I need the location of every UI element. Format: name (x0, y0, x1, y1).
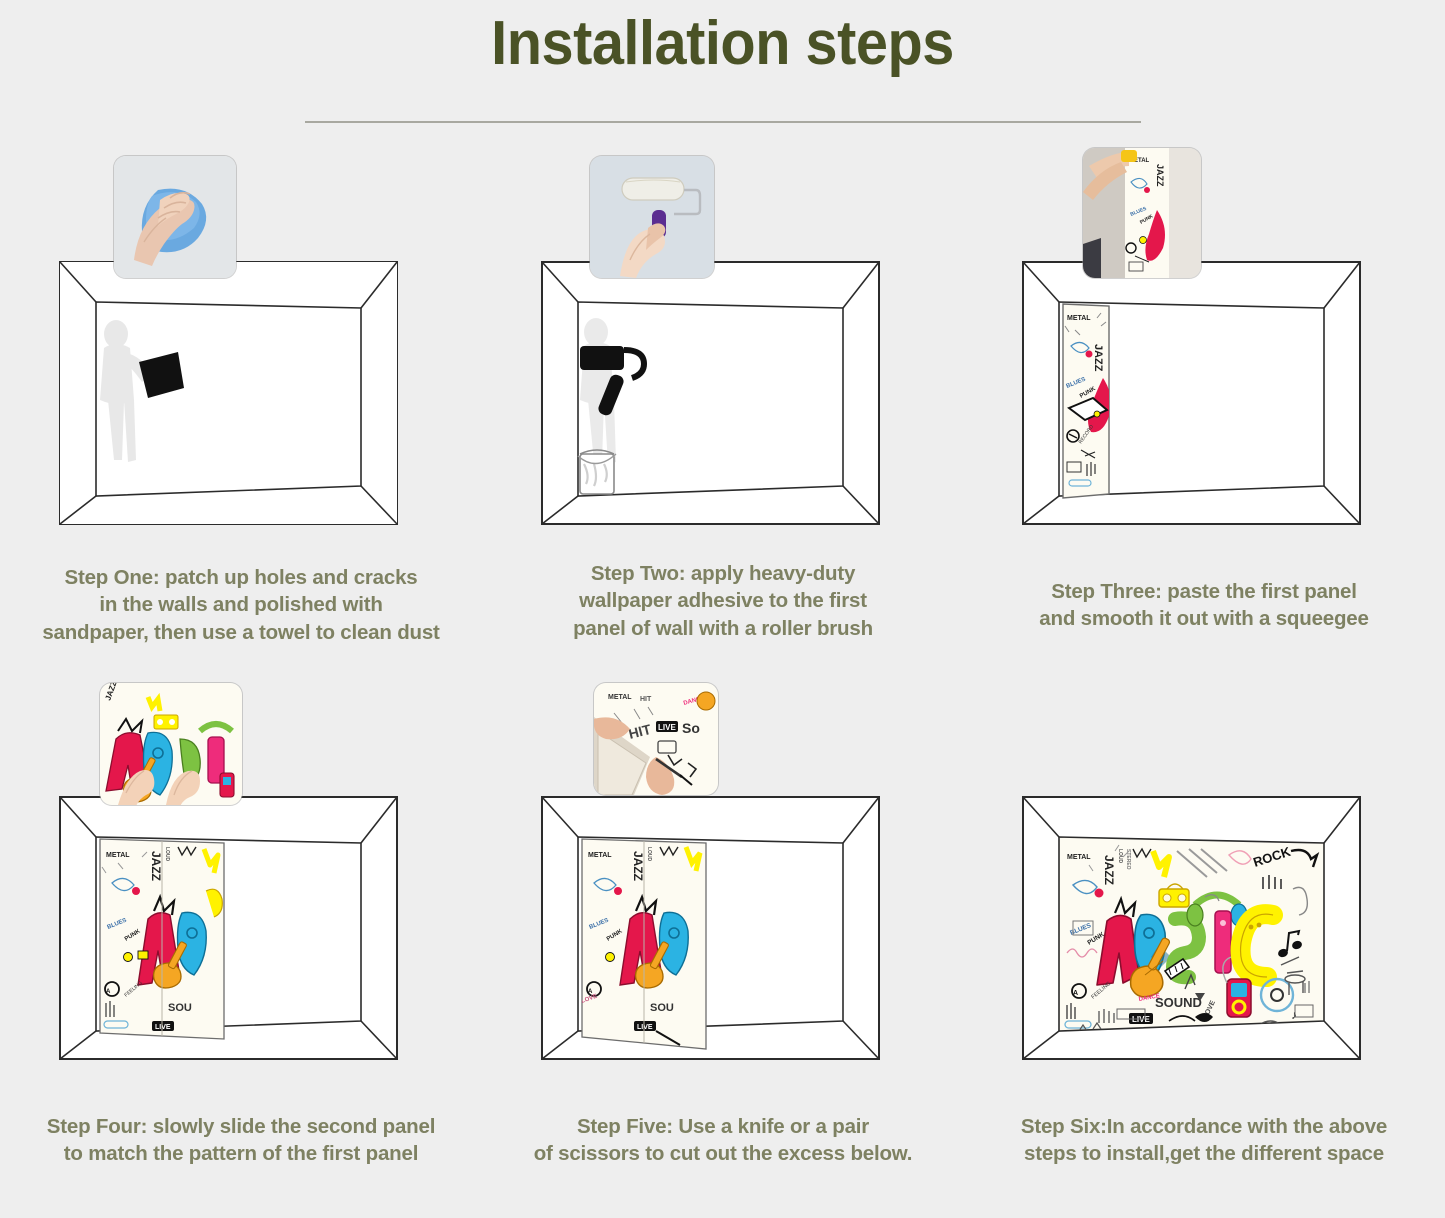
caption-line: Step One: patch up holes and cracks (0, 564, 482, 591)
caption-line: panel of wall with a roller brush (482, 615, 964, 642)
caption-line: of scissors to cut out the excess below. (482, 1140, 964, 1167)
svg-text:LOUD: LOUD (164, 847, 170, 862)
step-two-photo (590, 156, 714, 278)
caption-line: and smooth it out with a squeegee (963, 605, 1445, 632)
step-six-caption: Step Six:In accordance with the above st… (963, 1113, 1445, 1168)
svg-text:METAL: METAL (1067, 315, 1091, 322)
caption-line: sandpaper, then use a towel to clean dus… (0, 619, 482, 646)
step-three-caption: Step Three: paste the first panel and sm… (963, 578, 1445, 633)
caption-line: Step Six:In accordance with the above (963, 1113, 1445, 1140)
step-five-illustration: METAL JAZZ LOUD BLUES PUNK (482, 683, 964, 1103)
wallpaper-panel-one: METAL JAZZ BLUES PUNK (1063, 304, 1111, 498)
step-five-caption: Step Five: Use a knife or a pair of scis… (482, 1113, 964, 1168)
svg-text:METAL: METAL (608, 694, 632, 701)
step-four-illustration: METAL JAZZ LOUD BLUES PUNK (0, 683, 482, 1103)
caption-line: wallpaper adhesive to the first (482, 587, 964, 614)
title-divider (305, 121, 1141, 123)
room-diagram-four: METAL JAZZ LOUD BLUES PUNK (56, 793, 401, 1063)
svg-text:JAZZ: JAZZ (1155, 164, 1165, 187)
step-five-photo: METAL HIT LIVE So DANCE HIT (594, 683, 718, 795)
step-six-cell: METAL JAZZ LOUD STEREO ROCK (963, 683, 1445, 1218)
step-one-illustration (0, 148, 482, 568)
svg-text:A: A (1073, 990, 1078, 997)
svg-text:METAL: METAL (106, 852, 130, 859)
step-one-caption: Step One: patch up holes and cracks in t… (0, 564, 482, 646)
svg-text:♪: ♪ (1291, 1008, 1297, 1022)
svg-text:LIVE: LIVE (155, 1024, 171, 1031)
steps-row-top: Step One: patch up holes and cracks in t… (0, 148, 1445, 683)
svg-text:SOUND: SOUND (1155, 995, 1202, 1010)
svg-text:LOUD: LOUD (1117, 849, 1123, 864)
caption-line: to match the pattern of the first panel (0, 1140, 482, 1167)
svg-text:JAZZ: JAZZ (149, 851, 163, 881)
room-diagram-five: METAL JAZZ LOUD BLUES PUNK (538, 793, 883, 1063)
svg-text:METAL: METAL (588, 852, 612, 859)
svg-text:SOU: SOU (168, 1002, 192, 1014)
mural-letter-I (1215, 911, 1231, 973)
svg-text:LIVE: LIVE (637, 1024, 653, 1031)
step-two-cell: Step Two: apply heavy-duty wallpaper adh… (482, 148, 964, 683)
step-four-cell: METAL JAZZ LOUD BLUES PUNK (0, 683, 482, 1218)
room-diagram-six: METAL JAZZ LOUD STEREO ROCK (1019, 793, 1364, 1063)
step-three-illustration: METAL JAZZ BLUES PUNK (963, 148, 1445, 568)
svg-text:SOU: SOU (650, 1002, 674, 1014)
adhesive-bucket-icon (578, 450, 616, 494)
svg-text:A: A (106, 989, 111, 995)
step-three-photo: METAL JAZZ BLUES PUNK (1083, 148, 1201, 278)
steps-row-bottom: METAL JAZZ LOUD BLUES PUNK (0, 683, 1445, 1218)
steps-grid: Step One: patch up holes and cracks in t… (0, 148, 1445, 1218)
caption-line: steps to install,get the different space (963, 1140, 1445, 1167)
wallpaper-panels-two: METAL JAZZ LOUD BLUES PUNK (100, 839, 224, 1039)
svg-text:JAZZ: JAZZ (631, 851, 645, 881)
step-two-caption: Step Two: apply heavy-duty wallpaper adh… (482, 560, 964, 642)
step-one-cell: Step One: patch up holes and cracks in t… (0, 148, 482, 683)
room-diagram-three: METAL JAZZ BLUES PUNK (1019, 258, 1364, 528)
caption-line: Step Five: Use a knife or a pair (482, 1113, 964, 1140)
svg-text:LOUD: LOUD (646, 847, 652, 862)
page-title: Installation steps (51, 8, 1395, 79)
caption-line: Step Four: slowly slide the second panel (0, 1113, 482, 1140)
step-two-illustration (482, 148, 964, 568)
room-diagram-one (56, 258, 401, 528)
wallpaper-panels-excess: METAL JAZZ LOUD BLUES PUNK (581, 839, 706, 1049)
svg-text:JAZZ: JAZZ (1092, 344, 1104, 372)
caption-line: Step Three: paste the first panel (963, 578, 1445, 605)
svg-text:METAL: METAL (1067, 854, 1091, 861)
caption-line: in the walls and polished with (0, 591, 482, 618)
caption-line: Step Two: apply heavy-duty (482, 560, 964, 587)
svg-text:So: So (682, 720, 700, 736)
step-four-photo: JAZZ (100, 683, 242, 805)
step-three-cell: METAL JAZZ BLUES PUNK (963, 148, 1445, 683)
step-five-cell: METAL JAZZ LOUD BLUES PUNK (482, 683, 964, 1218)
step-six-illustration: METAL JAZZ LOUD STEREO ROCK (963, 683, 1445, 1103)
installation-steps-infographic: Installation steps (0, 0, 1445, 1217)
svg-text:HIT: HIT (640, 696, 652, 703)
svg-text:LIVE: LIVE (658, 723, 676, 732)
step-one-photo (114, 156, 236, 278)
svg-text:JAZZ: JAZZ (1102, 855, 1116, 885)
step-four-caption: Step Four: slowly slide the second panel… (0, 1113, 482, 1168)
room-diagram-two (538, 258, 883, 528)
